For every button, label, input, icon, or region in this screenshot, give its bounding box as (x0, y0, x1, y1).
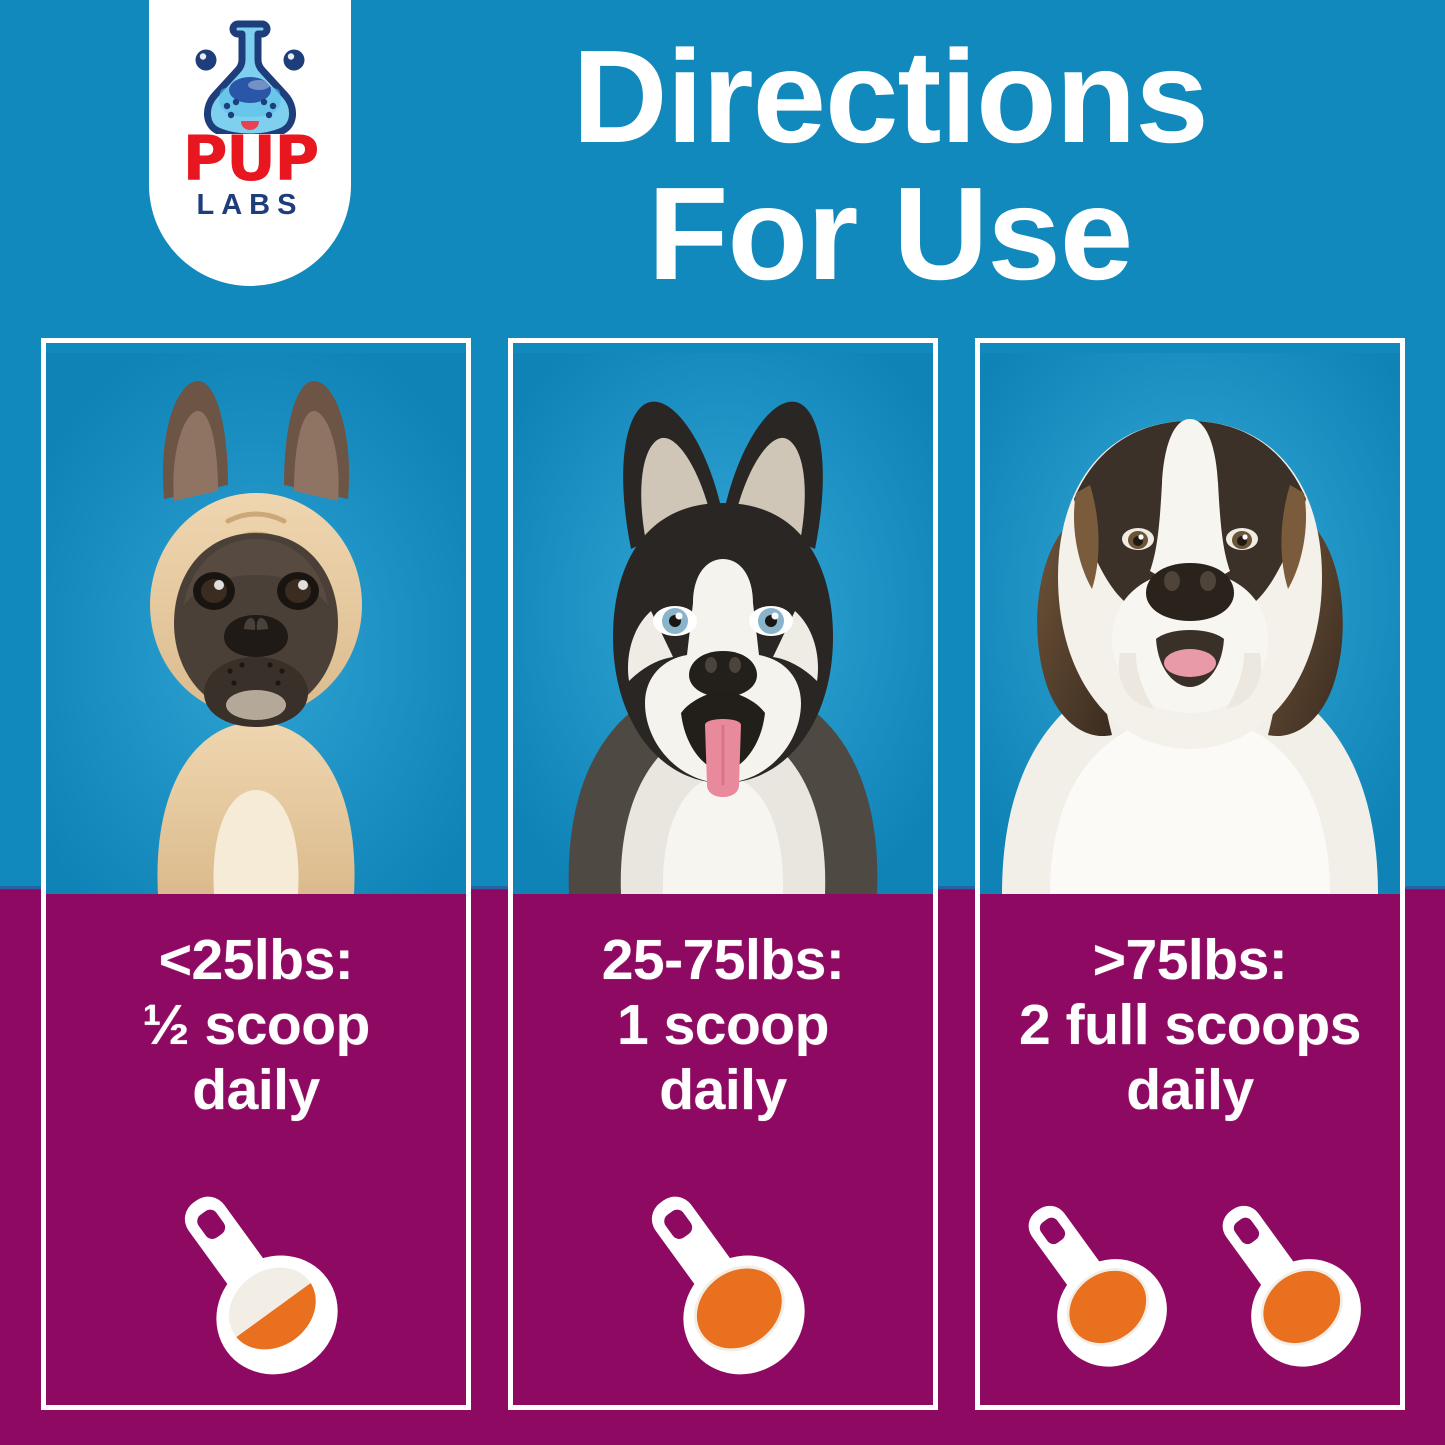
dog-face-flask-icon (191, 18, 309, 134)
scoop-full-icon (998, 1203, 1188, 1383)
dose-frequency-label: daily (980, 1058, 1400, 1123)
dose-amount-label: 2 full scoops (980, 993, 1400, 1058)
scoop-icons-medium-dog (513, 1193, 933, 1383)
scoop-icons-small-dog (46, 1193, 466, 1383)
saint-bernard-photo (980, 343, 1400, 894)
dose-frequency-label: daily (46, 1058, 466, 1123)
scoop-icons-large-dog (980, 1203, 1400, 1383)
page-title: Directions For Use (380, 28, 1400, 303)
dosage-card-medium-dog: 25-75lbs: 1 scoop daily (508, 338, 938, 1410)
dose-amount-label: 1 scoop (513, 993, 933, 1058)
weight-range-label: >75lbs: (980, 928, 1400, 993)
directions-for-use-poster: PUP LABS Directions For Use (0, 0, 1445, 1445)
dose-frequency-label: daily (513, 1058, 933, 1123)
brand-logo-badge: PUP LABS (149, 0, 351, 286)
weight-range-label: 25-75lbs: (513, 928, 933, 993)
dosage-card-large-dog: >75lbs: 2 full scoops daily (975, 338, 1405, 1410)
french-bulldog-photo (46, 343, 466, 894)
scoop-full-icon (1192, 1203, 1382, 1383)
brand-subtitle: LABS (197, 189, 304, 222)
dosage-card-small-dog: <25lbs: ½ scoop daily (41, 338, 471, 1410)
scoop-full-icon (608, 1193, 838, 1383)
dose-amount-label: ½ scoop (46, 993, 466, 1058)
page-title-line-2: For Use (380, 165, 1400, 302)
dosage-card-row: <25lbs: ½ scoop daily (41, 338, 1405, 1410)
siberian-husky-photo (513, 343, 933, 894)
weight-range-label: <25lbs: (46, 928, 466, 993)
scoop-half-icon (141, 1193, 371, 1383)
page-title-line-1: Directions (380, 28, 1400, 165)
brand-name: PUP (182, 130, 317, 187)
